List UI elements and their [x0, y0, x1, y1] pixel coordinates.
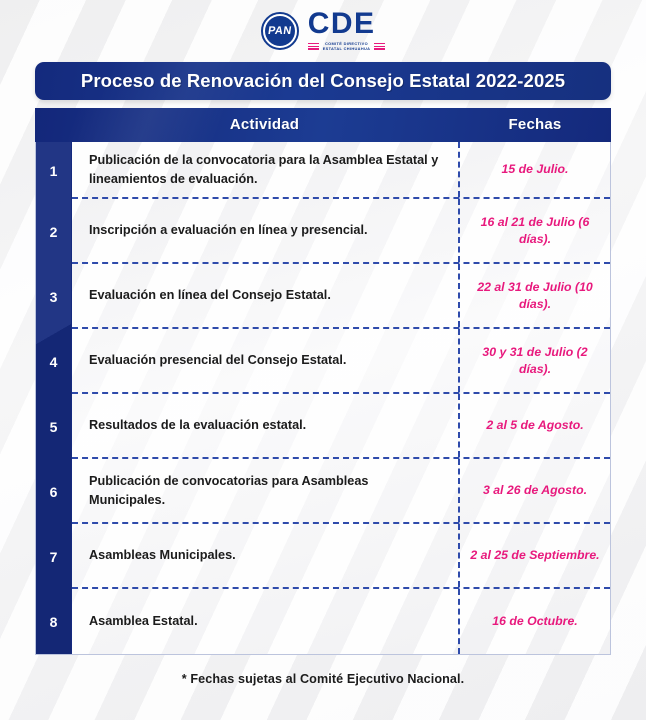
- table-rows: Publicación de la convocatoria para la A…: [72, 142, 610, 654]
- cde-subtitle-row: COMITÉ DIRECTIVO ESTATAL CHIHUAHUA: [308, 41, 386, 52]
- table-row: Asamblea Estatal. 16 de Octubre.: [72, 589, 610, 654]
- dates-cell: 16 al 21 de Julio (6 días).: [458, 199, 610, 262]
- dates-cell: 16 de Octubre.: [458, 589, 610, 654]
- table-row: Evaluación en línea del Consejo Estatal.…: [72, 264, 610, 329]
- schedule-table: Actividad Fechas 1 2 3 4 5 6 7 8: [35, 108, 611, 655]
- activity-cell: Evaluación presencial del Consejo Estata…: [72, 351, 458, 369]
- dates-cell: 30 y 31 de Julio (2 días).: [458, 329, 610, 392]
- pan-logo-icon: PAN: [261, 12, 299, 50]
- activity-cell: Publicación de convocatorias para Asambl…: [72, 472, 458, 508]
- row-number: 7: [36, 524, 71, 589]
- footnote: * Fechas sujetas al Comité Ejecutivo Nac…: [0, 672, 646, 686]
- bars-left-icon: [308, 43, 319, 50]
- table-row: Evaluación presencial del Consejo Estata…: [72, 329, 610, 394]
- schedule-table-wrap: Actividad Fechas 1 2 3 4 5 6 7 8: [0, 100, 646, 655]
- cde-subtitle-line2: ESTATAL CHIHUAHUA: [323, 46, 371, 51]
- dates-cell: 2 al 5 de Agosto.: [458, 394, 610, 457]
- table-row: Publicación de convocatorias para Asambl…: [72, 459, 610, 524]
- pan-logo-disc: PAN: [265, 16, 295, 46]
- brand-header: PAN CDE COMITÉ DIRECTIVO ESTATAL CHIHUAH…: [0, 0, 646, 62]
- table-row: Asambleas Municipales. 2 al 25 de Septie…: [72, 524, 610, 589]
- activity-cell: Evaluación en línea del Consejo Estatal.: [72, 286, 458, 304]
- cde-logo-label: CDE: [308, 10, 386, 39]
- dates-cell: 15 de Julio.: [458, 142, 610, 197]
- title-banner: Proceso de Renovación del Consejo Estata…: [35, 62, 611, 100]
- cde-logo: CDE COMITÉ DIRECTIVO ESTATAL CHIHUAHUA: [308, 10, 386, 51]
- cde-subtitle: COMITÉ DIRECTIVO ESTATAL CHIHUAHUA: [323, 41, 371, 52]
- table-header-row: Actividad Fechas: [35, 108, 611, 142]
- row-number: 6: [36, 459, 71, 524]
- dates-cell: 2 al 25 de Septiembre.: [458, 524, 610, 587]
- table-body: 1 2 3 4 5 6 7 8 Publicación de la convoc…: [35, 142, 611, 655]
- row-number: 2: [36, 199, 71, 264]
- dates-cell: 3 al 26 de Agosto.: [458, 459, 610, 522]
- row-number-column: 1 2 3 4 5 6 7 8: [36, 142, 72, 654]
- table-header-dates-label: Fechas: [509, 116, 562, 133]
- activity-cell: Resultados de la evaluación estatal.: [72, 416, 458, 434]
- table-row: Inscripción a evaluación en línea y pres…: [72, 199, 610, 264]
- row-number: 1: [36, 142, 71, 199]
- row-number: 4: [36, 329, 71, 394]
- activity-cell: Inscripción a evaluación en línea y pres…: [72, 221, 458, 239]
- row-number: 5: [36, 394, 71, 459]
- page-title: Proceso de Renovación del Consejo Estata…: [81, 70, 565, 92]
- pan-logo-label: PAN: [267, 25, 292, 37]
- table-header-activity-label: Actividad: [230, 116, 299, 133]
- table-row: Publicación de la convocatoria para la A…: [72, 142, 610, 199]
- activity-cell: Asamblea Estatal.: [72, 612, 458, 630]
- bars-right-icon: [374, 43, 385, 50]
- activity-cell: Publicación de la convocatoria para la A…: [72, 151, 458, 187]
- row-number: 3: [36, 264, 71, 329]
- activity-cell: Asambleas Municipales.: [72, 546, 458, 564]
- title-banner-wrap: Proceso de Renovación del Consejo Estata…: [0, 62, 646, 100]
- row-number: 8: [36, 589, 71, 654]
- table-header-dates: Fechas: [459, 116, 611, 134]
- header-shine: [59, 108, 230, 142]
- dates-cell: 22 al 31 de Julio (10 días).: [458, 264, 610, 327]
- cde-subtitle-line1: COMITÉ DIRECTIVO: [325, 41, 368, 46]
- table-row: Resultados de la evaluación estatal. 2 a…: [72, 394, 610, 459]
